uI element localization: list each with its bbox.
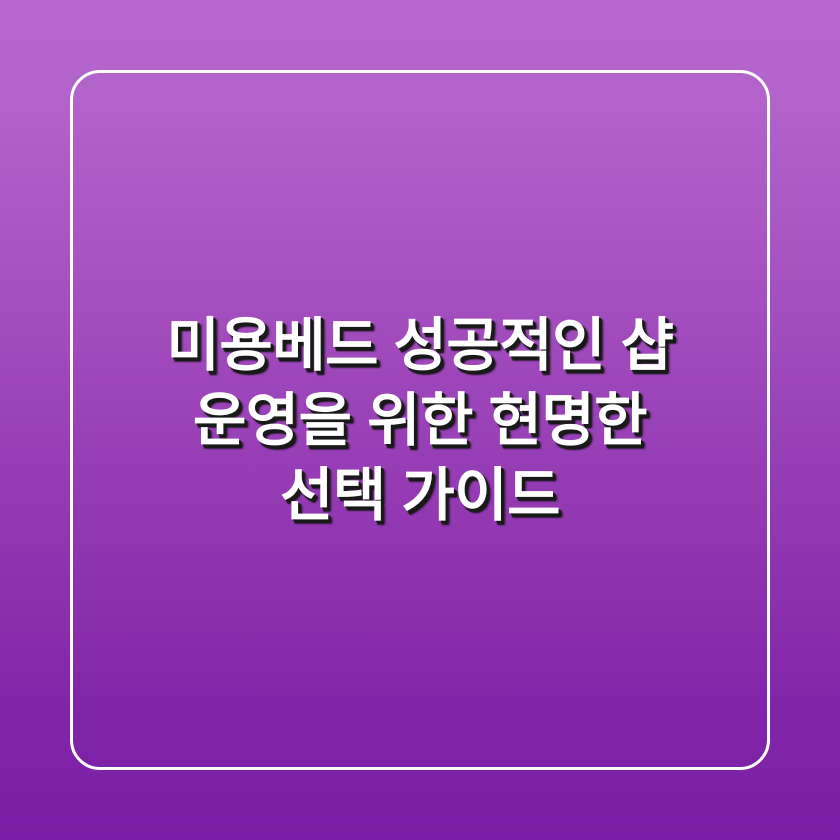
thumbnail-card: 미용베드 성공적인 샵 운영을 위한 현명한 선택 가이드 xyxy=(0,0,840,840)
headline-line-2: 운영을 위한 현명한 xyxy=(96,383,744,458)
headline-line-1: 미용베드 성공적인 샵 xyxy=(96,308,744,383)
headline-line-3: 선택 가이드 xyxy=(96,458,744,533)
headline-block: 미용베드 성공적인 샵 운영을 위한 현명한 선택 가이드 xyxy=(0,0,840,840)
